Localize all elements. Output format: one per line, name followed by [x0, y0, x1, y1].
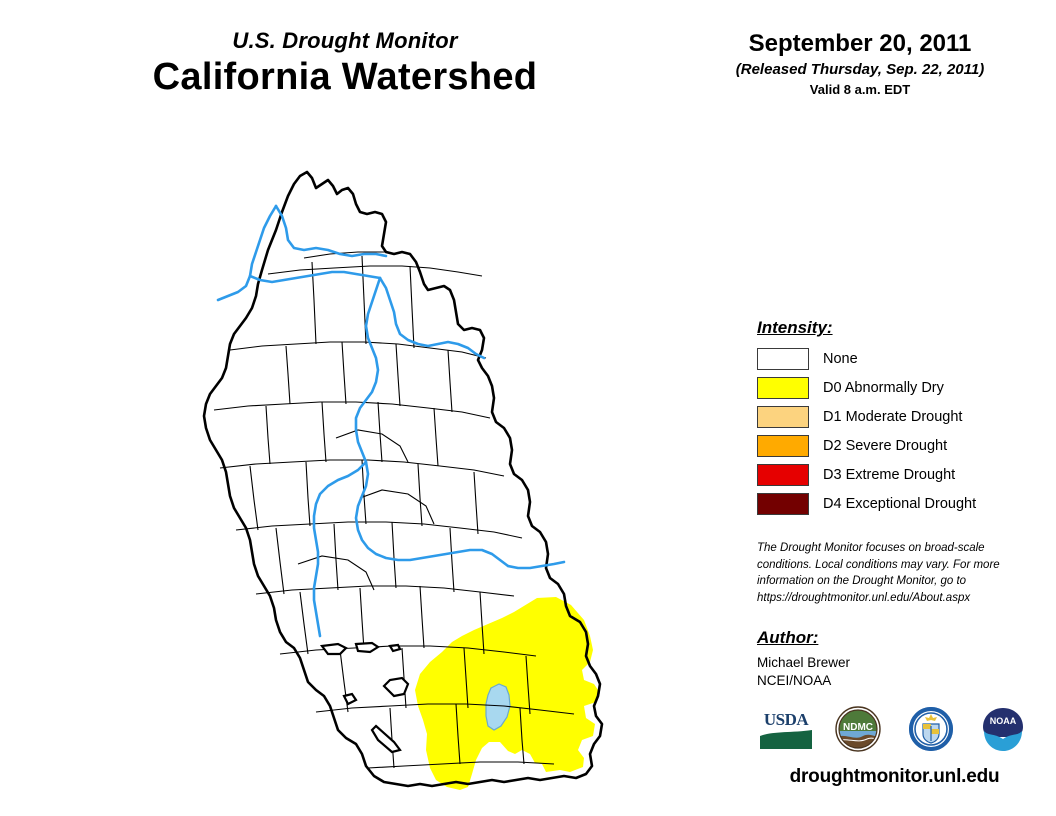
- header-left: U.S. Drought Monitor California Watershe…: [0, 28, 690, 99]
- unl-seal: [902, 703, 960, 755]
- legend-swatch-d2: [757, 435, 809, 457]
- legend-swatch-d4: [757, 493, 809, 515]
- legend-swatch-d0: [757, 377, 809, 399]
- author-block: Author: Michael Brewer NCEI/NOAA: [757, 628, 1027, 690]
- page-title: California Watershed: [0, 56, 690, 99]
- channel-islands: [322, 643, 408, 752]
- drought-map: [90, 150, 710, 800]
- legend-label-d2: D2 Severe Drought: [823, 438, 947, 454]
- legend-label-d0: D0 Abnormally Dry: [823, 380, 944, 396]
- map-date: September 20, 2011: [690, 30, 1030, 58]
- legend-label-d3: D3 Extreme Drought: [823, 467, 955, 483]
- release-date: (Released Thursday, Sep. 22, 2011): [690, 61, 1030, 78]
- legend-item-d4: D4 Exceptional Drought: [757, 491, 1037, 517]
- legend-swatch-d3: [757, 464, 809, 486]
- legend-item-d0: D0 Abnormally Dry: [757, 375, 1037, 401]
- river-network: [218, 206, 564, 636]
- author-affiliation: NCEI/NOAA: [757, 672, 1027, 690]
- legend-item-none: None: [757, 346, 1037, 372]
- legend-swatch-d1: [757, 406, 809, 428]
- intensity-legend: Intensity: None D0 Abnormally Dry D1 Mod…: [757, 318, 1037, 520]
- svg-text:USDA: USDA: [764, 710, 810, 729]
- author-name: Michael Brewer: [757, 654, 1027, 672]
- svg-text:NOAA: NOAA: [990, 716, 1017, 726]
- disclaimer-text: The Drought Monitor focuses on broad-sca…: [757, 540, 1027, 607]
- legend-label-d1: D1 Moderate Drought: [823, 409, 962, 425]
- site-url: droughtmonitor.unl.edu: [757, 766, 1032, 788]
- svg-text:NDMC: NDMC: [843, 722, 873, 733]
- noaa-logo: NOAA: [974, 703, 1032, 755]
- legend-heading: Intensity:: [757, 318, 1037, 338]
- legend-item-d3: D3 Extreme Drought: [757, 462, 1037, 488]
- legend-swatch-none: [757, 348, 809, 370]
- page-subtitle: U.S. Drought Monitor: [0, 28, 690, 54]
- legend-item-d1: D1 Moderate Drought: [757, 404, 1037, 430]
- logo-strip: USDA NDMC: [757, 703, 1032, 755]
- legend-label-d4: D4 Exceptional Drought: [823, 496, 976, 512]
- header-right: September 20, 2011 (Released Thursday, S…: [690, 30, 1030, 97]
- legend-label-none: None: [823, 351, 858, 367]
- ndmc-logo: NDMC: [829, 703, 887, 755]
- usda-logo: USDA: [757, 703, 815, 755]
- legend-item-d2: D2 Severe Drought: [757, 433, 1037, 459]
- author-heading: Author:: [757, 628, 1027, 648]
- valid-time: Valid 8 a.m. EDT: [690, 82, 1030, 97]
